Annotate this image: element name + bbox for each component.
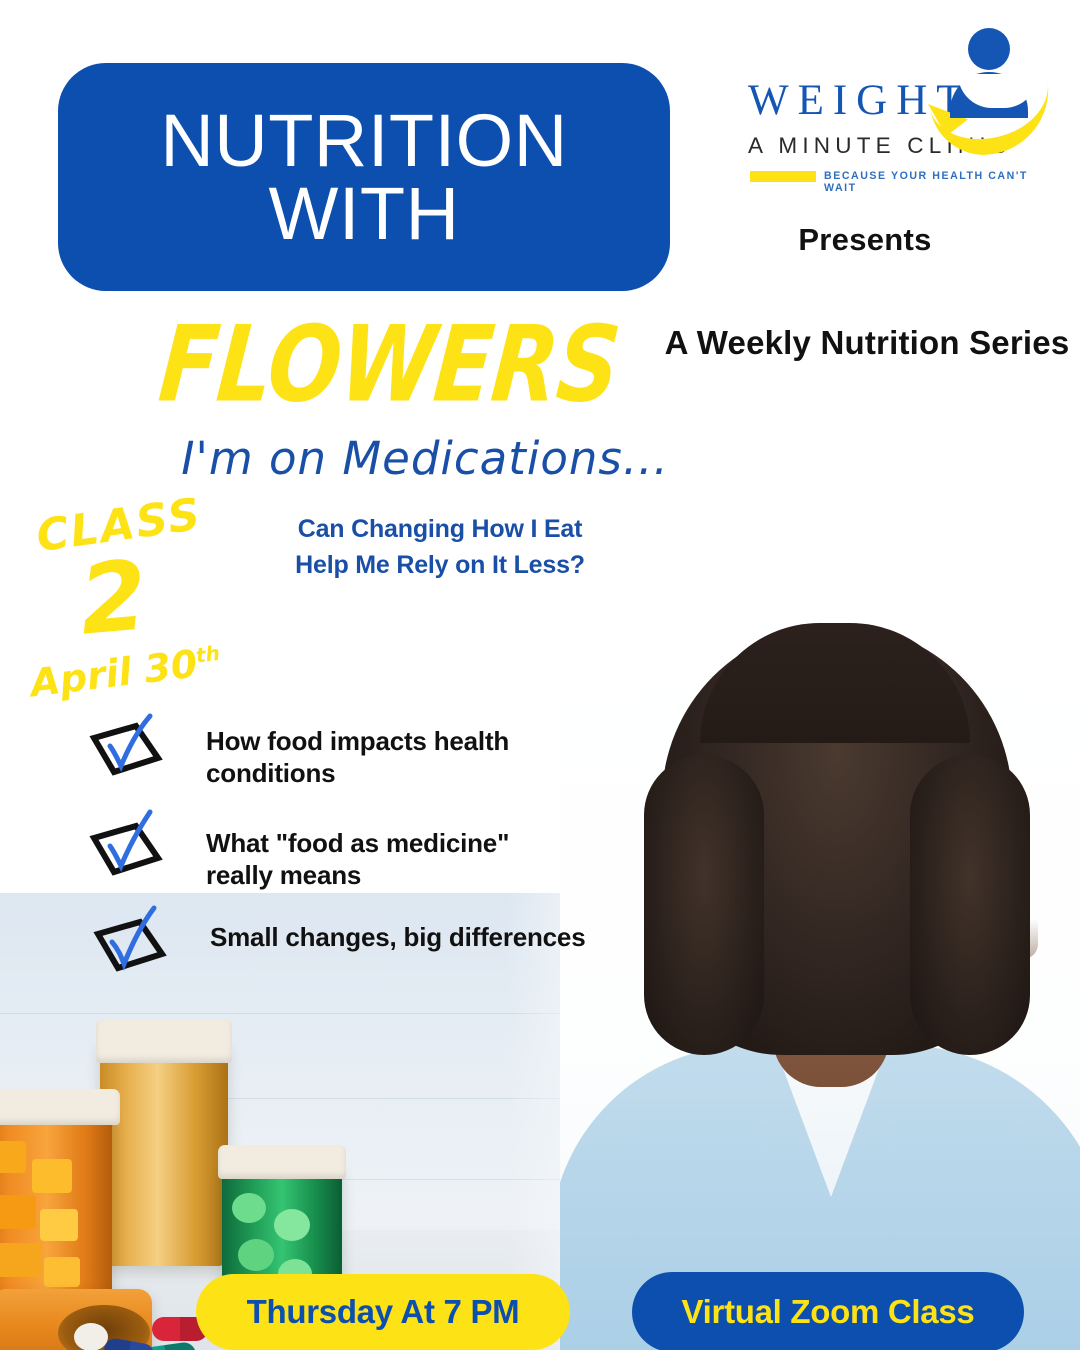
photo-grain-line	[0, 1013, 627, 1014]
green-bottle-cap	[218, 1145, 346, 1179]
amber-pill-bottle	[100, 1041, 228, 1266]
topic-headline: I'm on Medications...	[140, 432, 710, 485]
question-line-2: Help Me Rely on It Less?	[295, 551, 585, 579]
pill	[0, 1195, 36, 1229]
class-date-suffix: th	[195, 641, 222, 668]
brand-logo: WEIGHT A MINUTE CLINIC BECAUSE YOUR HEAL…	[742, 28, 1052, 176]
pill	[44, 1257, 80, 1287]
pill	[40, 1209, 78, 1241]
orange-pill-bottle	[0, 1111, 112, 1311]
checkbox-checked-icon	[88, 822, 162, 878]
title-line-1: NUTRITION	[160, 99, 567, 182]
amber-bottle-cap	[96, 1019, 232, 1063]
class-date-text: April 30	[28, 641, 200, 705]
topic-question: Can Changing How I Eat Help Me Rely on I…	[245, 512, 635, 583]
logo-person-head-icon	[968, 28, 1010, 70]
class-number: 2	[76, 547, 151, 648]
pill	[0, 1243, 42, 1277]
list-item-label: How food impacts health conditions	[206, 726, 536, 789]
pill	[238, 1239, 274, 1271]
checkbox-checked-icon	[92, 918, 166, 974]
page-title: NUTRITION WITH	[160, 104, 567, 251]
list-item-label: What "food as medicine" really means	[206, 828, 566, 891]
pill	[274, 1209, 310, 1241]
question-line-1: Can Changing How I Eat	[298, 515, 583, 543]
logo-tagline: BECAUSE YOUR HEALTH CAN'T WAIT	[824, 170, 1052, 194]
logo-yellow-bar	[750, 171, 816, 182]
pill	[0, 1141, 26, 1173]
presenter-portrait-photo: WEIGHT A MINUTE CLINIC BECAUSE YOUR HEAL…	[560, 615, 1080, 1350]
pill	[32, 1159, 72, 1193]
class-time-badge[interactable]: Thursday At 7 PM	[196, 1274, 570, 1350]
flyer-canvas: WEIGHT A MINUTE CLINIC BECAUSE YOUR HEAL…	[0, 0, 1080, 1350]
class-badge: CLASS 2 April 30th	[22, 498, 262, 713]
class-format-badge[interactable]: Virtual Zoom Class	[632, 1272, 1024, 1350]
tablet-white	[74, 1323, 108, 1350]
title-line-2: WITH	[268, 172, 459, 255]
list-item-label: Small changes, big differences	[210, 922, 650, 954]
pill	[232, 1193, 266, 1223]
title-banner: NUTRITION WITH	[58, 63, 670, 291]
host-name-script: FLOWERS	[155, 313, 584, 418]
checkbox-checked-icon	[88, 722, 162, 778]
orange-bottle-cap	[0, 1089, 120, 1125]
presents-label: Presents	[700, 222, 1030, 258]
series-heading: A Weekly Nutrition Series	[662, 322, 1072, 364]
